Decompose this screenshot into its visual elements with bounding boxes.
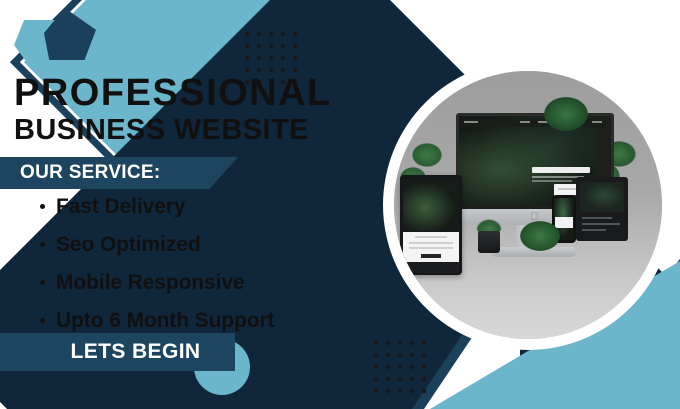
foliage-leaf bbox=[412, 143, 442, 167]
secondary-tablet-device bbox=[576, 177, 628, 241]
feature-list: Fast Delivery Seo Optimized Mobile Respo… bbox=[38, 196, 274, 348]
potted-plant-pot bbox=[478, 231, 500, 253]
page-title-line1: PROFESSIONAL bbox=[14, 74, 332, 112]
promo-banner:  bbox=[0, 0, 680, 409]
service-band-label: OUR SERVICE: bbox=[0, 162, 161, 184]
tablet-device bbox=[400, 175, 462, 275]
logo-navy-shape bbox=[44, 8, 96, 60]
device-mockup-photo:  bbox=[394, 71, 662, 339]
smartphone-content-card bbox=[555, 217, 573, 228]
tablet-footer bbox=[403, 263, 459, 273]
brand-logo-icon bbox=[14, 8, 100, 70]
imac-hero-subline bbox=[532, 180, 572, 182]
list-item: Fast Delivery bbox=[56, 196, 274, 217]
foliage-leaf bbox=[520, 221, 560, 251]
lets-begin-button[interactable]: LETS BEGIN bbox=[0, 333, 235, 371]
imac-hero-headline bbox=[532, 167, 590, 173]
tablet-hero-image bbox=[403, 179, 459, 231]
tablet-content-card bbox=[403, 232, 459, 262]
list-item: Upto 6 Month Support bbox=[56, 310, 274, 331]
list-item: Seo Optimized bbox=[56, 234, 274, 255]
lets-begin-label: LETS BEGIN bbox=[34, 340, 200, 364]
foliage-leaf bbox=[544, 97, 588, 131]
list-item: Mobile Responsive bbox=[56, 272, 274, 293]
secondary-tablet-screen bbox=[580, 182, 624, 212]
dot-grid-bottom bbox=[374, 341, 426, 393]
service-band: OUR SERVICE: bbox=[0, 157, 238, 189]
page-title-line2: BUSINESS WEBSITE bbox=[14, 116, 309, 145]
